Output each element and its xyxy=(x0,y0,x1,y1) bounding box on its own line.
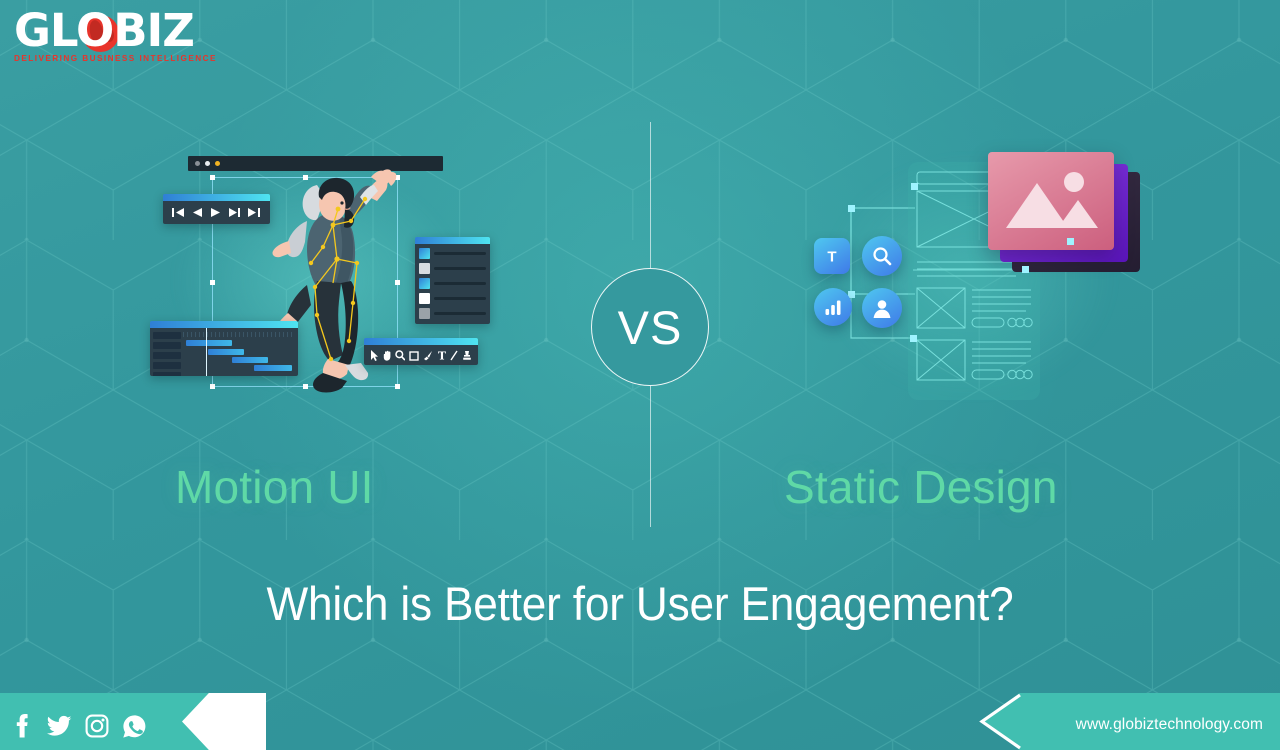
text-icon[interactable]: T xyxy=(437,350,447,361)
connector-node xyxy=(911,183,918,190)
timeline-tracks[interactable] xyxy=(150,328,298,376)
panel-title-bar xyxy=(163,194,270,201)
rectangle-icon[interactable] xyxy=(409,350,419,361)
layer-label xyxy=(434,282,486,285)
vs-badge: VS xyxy=(591,268,709,386)
selection-handle[interactable] xyxy=(210,384,215,389)
svg-text:T: T xyxy=(827,249,836,266)
line-icon[interactable] xyxy=(450,350,458,361)
motion-ui-illustration: T xyxy=(150,145,495,415)
rewind-icon[interactable] xyxy=(192,207,203,218)
cursor-icon[interactable] xyxy=(370,350,379,361)
list-item[interactable] xyxy=(419,248,486,259)
skip-back-icon[interactable] xyxy=(172,207,185,218)
user-avatar-icon[interactable] xyxy=(862,288,902,328)
toolbar-panel[interactable]: T xyxy=(364,338,478,365)
image-placeholder-icon xyxy=(988,152,1114,250)
layer-swatch xyxy=(419,263,430,274)
logo-wordmark: GLOBIZ xyxy=(14,8,184,53)
selection-handle[interactable] xyxy=(210,175,215,180)
poster-canvas: GLOBIZ DELIVERING BUSINESS INTELLIGENCE xyxy=(0,0,1280,750)
vs-label: VS xyxy=(618,304,683,351)
layer-label xyxy=(434,267,486,270)
list-item[interactable] xyxy=(419,308,486,319)
list-item[interactable] xyxy=(419,263,486,274)
social-links[interactable] xyxy=(14,713,147,739)
image-card-front xyxy=(988,152,1114,250)
keyframe-clip[interactable] xyxy=(186,340,232,346)
footer-left-arrow-shape xyxy=(182,693,266,750)
playback-controls-panel[interactable] xyxy=(163,194,270,224)
connector-node xyxy=(1022,266,1029,273)
layer-label xyxy=(434,252,486,255)
layers-list[interactable] xyxy=(415,244,490,324)
selection-handle[interactable] xyxy=(210,280,215,285)
layer-label xyxy=(434,297,486,300)
layer-swatch xyxy=(419,293,430,304)
panel-title-bar xyxy=(150,321,298,328)
hand-icon[interactable] xyxy=(383,350,392,361)
brush-icon[interactable] xyxy=(423,350,433,361)
layer-swatch xyxy=(419,278,430,289)
timeline-panel[interactable] xyxy=(150,321,298,376)
list-item[interactable] xyxy=(419,278,486,289)
layers-panel[interactable] xyxy=(415,237,490,324)
footer-website-bar: www.globiztechnology.com xyxy=(984,693,1280,750)
whatsapp-icon[interactable] xyxy=(122,714,147,739)
keyframe-clip[interactable] xyxy=(208,349,244,355)
website-url[interactable]: www.globiztechnology.com xyxy=(1076,716,1263,734)
play-icon[interactable] xyxy=(210,207,221,218)
panel-title-bar xyxy=(364,338,478,345)
instagram-icon[interactable] xyxy=(85,714,109,738)
static-design-label: Static Design xyxy=(784,460,1058,515)
list-item[interactable] xyxy=(419,293,486,304)
panel-title-bar xyxy=(415,237,490,244)
static-design-illustration: T xyxy=(790,142,1150,412)
layer-swatch xyxy=(419,308,430,319)
footer-social-bar xyxy=(0,693,262,750)
stamp-icon[interactable] xyxy=(462,350,472,361)
facebook-icon[interactable] xyxy=(14,713,34,739)
connector-node xyxy=(910,335,917,342)
skip-forward-icon[interactable] xyxy=(248,207,261,218)
keyframe-clip[interactable] xyxy=(232,357,268,363)
logo-tagline: DELIVERING BUSINESS INTELLIGENCE xyxy=(14,54,184,63)
page-title: Which is Better for User Engagement? xyxy=(38,576,1241,631)
keyframe-clip[interactable] xyxy=(254,365,292,371)
window-dot-white xyxy=(205,161,210,166)
connector-node xyxy=(1067,238,1074,245)
twitter-icon[interactable] xyxy=(47,715,72,737)
bar-chart-icon[interactable] xyxy=(814,288,852,326)
magnifier-icon[interactable] xyxy=(395,350,405,361)
motion-ui-label: Motion UI xyxy=(175,460,374,515)
layer-label xyxy=(434,312,486,315)
window-dot-gray xyxy=(195,161,200,166)
search-icon[interactable] xyxy=(862,236,902,276)
fast-forward-icon[interactable] xyxy=(228,207,241,218)
track-name-column xyxy=(153,332,181,376)
chevron-left-icon xyxy=(976,693,1022,750)
connector-node xyxy=(848,205,855,212)
text-tool-icon[interactable]: T xyxy=(814,238,850,274)
timeline-ruler xyxy=(183,332,295,337)
svg-text:T: T xyxy=(437,350,446,361)
layer-swatch xyxy=(419,248,430,259)
window-dot-yellow xyxy=(215,161,220,166)
brand-logo[interactable]: GLOBIZ DELIVERING BUSINESS INTELLIGENCE xyxy=(14,8,184,63)
playhead[interactable] xyxy=(206,328,207,376)
